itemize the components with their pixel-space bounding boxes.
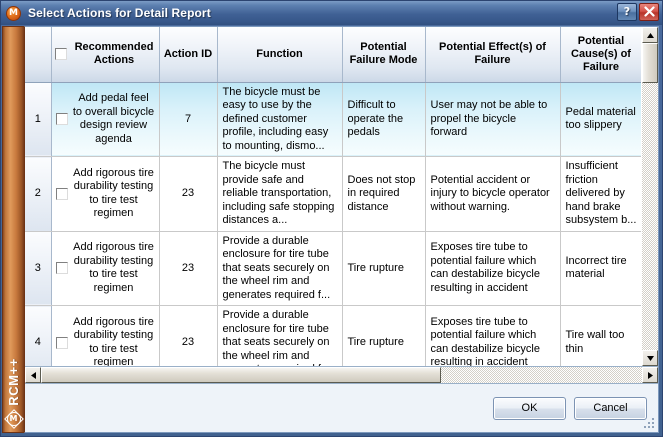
cell-recommended-actions[interactable]: Add rigorous tire durability testing to … — [51, 306, 159, 367]
cell-potential-causes[interactable]: Incorrect tire material — [560, 231, 641, 306]
cell-function[interactable]: Provide a durable enclosure for tire tub… — [217, 306, 342, 367]
grid-viewport[interactable]: Recommended Actions Action ID Function P… — [25, 27, 641, 366]
vertical-scroll-track[interactable] — [642, 83, 658, 350]
row-checkbox[interactable] — [56, 262, 68, 274]
cell-potential-effects[interactable]: Potential accident or injury to bicycle … — [425, 157, 560, 232]
scroll-left-button[interactable] — [25, 367, 41, 383]
horizontal-scrollbar[interactable] — [25, 366, 658, 383]
cell-recommended-actions[interactable]: Add pedal feel to overall bicycle design… — [51, 82, 159, 157]
cell-potential-effects[interactable]: User may not be able to propel the bicyc… — [425, 82, 560, 157]
cell-potential-effects[interactable]: Exposes tire tube to potential failure w… — [425, 306, 560, 367]
cell-potential-failure-mode[interactable]: Tire rupture — [342, 231, 425, 306]
column-header-function[interactable]: Function — [217, 27, 342, 82]
table-row[interactable]: 1 Add pedal feel to overall bicycle desi… — [25, 82, 641, 157]
row-number: 4 — [25, 306, 51, 367]
column-header-potential-effects[interactable]: Potential Effect(s) of Failure — [425, 27, 560, 82]
column-header-action-id[interactable]: Action ID — [159, 27, 217, 82]
cell-action-id[interactable]: 23 — [159, 231, 217, 306]
cell-function[interactable]: Provide a durable enclosure for tire tub… — [217, 231, 342, 306]
content-panel: Recommended Actions Action ID Function P… — [24, 26, 659, 433]
row-checkbox[interactable] — [56, 337, 68, 349]
cell-recommended-actions-text: Add rigorous tire durability testing to … — [73, 241, 155, 295]
resize-grip[interactable] — [644, 418, 656, 430]
dialog-window: M Select Actions for Detail Report ? RCM… — [0, 0, 663, 437]
cell-action-id[interactable]: 7 — [159, 82, 217, 157]
scroll-up-button[interactable] — [642, 27, 658, 43]
vertical-scrollbar[interactable] — [641, 27, 658, 366]
help-button[interactable]: ? — [617, 3, 637, 21]
cell-potential-effects[interactable]: Exposes tire tube to potential failure w… — [425, 231, 560, 306]
cell-recommended-actions-text: Add pedal feel to overall bicycle design… — [73, 92, 155, 146]
cell-recommended-actions[interactable]: Add rigorous tire durability testing to … — [51, 157, 159, 232]
scroll-right-button[interactable] — [642, 367, 658, 383]
table-row[interactable]: 3 Add rigorous tire durability testing t… — [25, 231, 641, 306]
table-row[interactable]: 4 Add rigorous tire durability testing t… — [25, 306, 641, 367]
column-header-rownum[interactable] — [25, 27, 51, 82]
cell-function[interactable]: The bicycle must be easy to use by the d… — [217, 82, 342, 157]
cell-action-id[interactable]: 23 — [159, 306, 217, 367]
cell-potential-failure-mode[interactable]: Tire rupture — [342, 306, 425, 367]
table-body: 1 Add pedal feel to overall bicycle desi… — [25, 82, 641, 366]
row-checkbox[interactable] — [56, 188, 68, 200]
ok-button[interactable]: OK — [493, 397, 566, 420]
cell-action-id[interactable]: 23 — [159, 157, 217, 232]
cell-potential-failure-mode[interactable]: Does not stop in required distance — [342, 157, 425, 232]
scroll-left-arrow-icon — [31, 372, 36, 379]
scroll-right-arrow-icon — [648, 372, 653, 379]
column-header-potential-causes[interactable]: Potential Cause(s) of Failure — [560, 27, 641, 82]
column-header-potential-failure-mode[interactable]: Potential Failure Mode — [342, 27, 425, 82]
column-header-recommended-actions[interactable]: Recommended Actions — [51, 27, 159, 82]
window-title: Select Actions for Detail Report — [28, 6, 211, 20]
close-button[interactable] — [639, 3, 659, 21]
table-header: Recommended Actions Action ID Function P… — [25, 27, 641, 82]
sidebar-logo-icon: M — [5, 410, 22, 427]
dialog-body: RCM++ M — [1, 25, 662, 436]
cell-recommended-actions-text: Add rigorous tire durability testing to … — [73, 167, 155, 221]
cell-potential-causes[interactable]: Insufficient friction delivered by hand … — [560, 157, 641, 232]
column-header-recommended-actions-label: Recommended Actions — [73, 41, 156, 67]
select-all-checkbox[interactable] — [55, 48, 67, 60]
actions-table: Recommended Actions Action ID Function P… — [25, 27, 641, 366]
title-bar-buttons: ? — [617, 3, 659, 21]
dialog-footer: OK Cancel — [25, 384, 658, 432]
cancel-button[interactable]: Cancel — [574, 397, 647, 420]
scroll-up-arrow-icon — [647, 33, 654, 38]
scroll-down-arrow-icon — [647, 356, 654, 361]
close-icon — [644, 6, 655, 17]
grid-scroll-row: Recommended Actions Action ID Function P… — [25, 27, 658, 366]
row-number: 2 — [25, 157, 51, 232]
table-row[interactable]: 2 Add rigorous tire durability testing t… — [25, 157, 641, 232]
horizontal-scroll-thumb[interactable] — [41, 367, 441, 383]
cell-recommended-actions-text: Add rigorous tire durability testing to … — [73, 316, 155, 366]
cell-recommended-actions[interactable]: Add rigorous tire durability testing to … — [51, 231, 159, 306]
vertical-scroll-thumb[interactable] — [642, 43, 658, 83]
scroll-down-button[interactable] — [642, 350, 658, 366]
row-number: 1 — [25, 82, 51, 157]
logo-letter: M — [7, 412, 21, 426]
actions-grid-container: Recommended Actions Action ID Function P… — [25, 27, 658, 384]
horizontal-scroll-track[interactable] — [441, 367, 642, 383]
cell-potential-failure-mode[interactable]: Difficult to operate the pedals — [342, 82, 425, 157]
sidebar-rail: RCM++ M — [2, 26, 24, 433]
cell-potential-causes[interactable]: Pedal material too slippery — [560, 82, 641, 157]
application-icon: M — [6, 6, 21, 21]
row-checkbox[interactable] — [56, 113, 68, 125]
header-row: Recommended Actions Action ID Function P… — [25, 27, 641, 82]
title-bar[interactable]: M Select Actions for Detail Report ? — [1, 1, 662, 25]
row-number: 3 — [25, 231, 51, 306]
cell-function[interactable]: The bicycle must provide safe and reliab… — [217, 157, 342, 232]
sidebar-product-label: RCM++ — [6, 358, 21, 406]
cell-potential-causes[interactable]: Tire wall too thin — [560, 306, 641, 367]
